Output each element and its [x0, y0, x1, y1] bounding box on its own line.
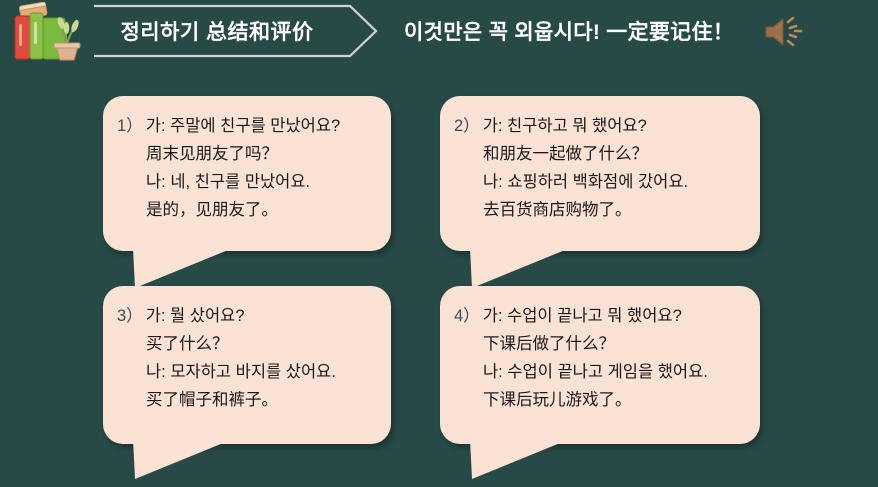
- card-number: 2）: [454, 117, 483, 135]
- card-number: 4）: [454, 307, 483, 325]
- card-line: 1）가: 주말에 친구를 만났어요?: [117, 112, 377, 140]
- card-line: 周末见朋友了吗？: [117, 140, 377, 168]
- header: 정리하기 总结和评价 이것만은 꼭 외웁시다! 一定要记住！: [0, 0, 878, 68]
- card-line: 4）가: 수업이 끝나고 뭐 했어요?: [454, 302, 746, 330]
- card-line: 去百货商店购物了。: [454, 196, 746, 224]
- card-line: 나: 모자하고 바지를 샀어요.: [117, 358, 377, 386]
- card-line: 下课后玩儿游戏了。: [454, 386, 746, 414]
- cards-grid: 1）가: 주말에 친구를 만났어요? 周末见朋友了吗？ 나: 네, 친구를 만났…: [0, 68, 878, 487]
- card-text: 가: 주말에 친구를 만났어요?: [146, 117, 341, 135]
- dialogue-card-4[interactable]: 4）가: 수업이 끝나고 뭐 했어요? 下课后做了什么？ 나: 수업이 끝나고 …: [440, 286, 760, 444]
- dialogue-card-2[interactable]: 2）가: 친구하고 뭐 했어요? 和朋友一起做了什么？ 나: 쇼핑하러 백화점에…: [440, 96, 760, 251]
- card-line: 2）가: 친구하고 뭐 했어요?: [454, 112, 746, 140]
- card-line: 나: 네, 친구를 만났어요.: [117, 168, 377, 196]
- card-line: 나: 쇼핑하러 백화점에 갔어요.: [454, 168, 746, 196]
- card-text: 가: 친구하고 뭐 했어요?: [483, 117, 647, 135]
- speaker-icon[interactable]: [762, 14, 806, 50]
- card-text: 가: 수업이 끝나고 뭐 했어요?: [483, 307, 682, 325]
- banner: 정리하기 总结和评价: [92, 4, 378, 58]
- slide-root: 정리하기 总结和评价 이것만은 꼭 외웁시다! 一定要记住！ 1）가: 주: [0, 0, 878, 487]
- card-line: 买了什么？: [117, 330, 377, 358]
- card-line: 和朋友一起做了什么？: [454, 140, 746, 168]
- card-number: 3）: [117, 307, 146, 325]
- card-line: 买了帽子和裤子。: [117, 386, 377, 414]
- books-plant-icon: [6, 2, 88, 62]
- card-line: 3）가: 뭘 샀어요?: [117, 302, 377, 330]
- banner-title: 정리하기 总结和评价: [92, 4, 342, 58]
- card-line: 나: 수업이 끝나고 게임을 했어요.: [454, 358, 746, 386]
- card-line: 下课后做了什么？: [454, 330, 746, 358]
- card-line: 是的，见朋友了。: [117, 196, 377, 224]
- card-number: 1）: [117, 117, 146, 135]
- card-text: 가: 뭘 샀어요?: [146, 307, 245, 325]
- card-tail-4: [470, 439, 570, 483]
- dialogue-card-3[interactable]: 3）가: 뭘 샀어요? 买了什么？ 나: 모자하고 바지를 샀어요. 买了帽子和…: [103, 286, 391, 444]
- header-slogan: 이것만은 꼭 외웁시다! 一定要记住！: [404, 4, 734, 58]
- dialogue-card-1[interactable]: 1）가: 주말에 친구를 만났어요? 周末见朋友了吗？ 나: 네, 친구를 만났…: [103, 96, 391, 251]
- card-tail-3: [133, 439, 233, 483]
